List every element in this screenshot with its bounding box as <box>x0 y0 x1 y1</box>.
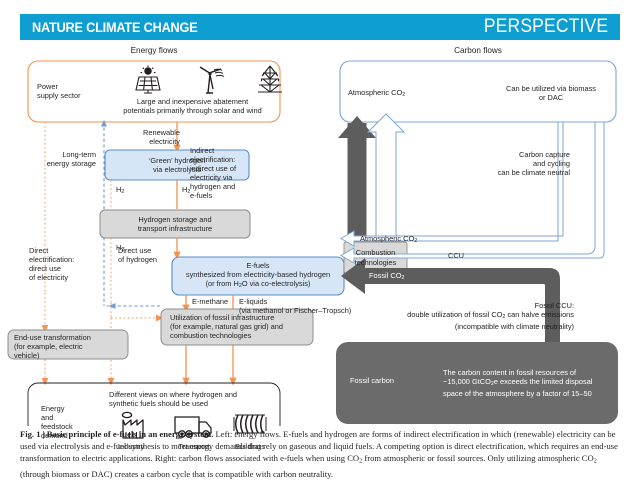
demand-note: Different views on where hydrogen and sy… <box>109 390 289 408</box>
fossil-ccu-line2: double utilization of fossil CO2 can hal… <box>407 310 574 319</box>
fossil-carbon-note: The carbon content in fossil resources o… <box>443 368 623 398</box>
indirect-electrification-label: Indirect electrification: indirect use o… <box>190 146 248 200</box>
energy-flows-title: Energy flows <box>104 46 204 55</box>
combustion-technologies-label: Combustion technologies <box>344 242 407 273</box>
h2-label-left: H2 <box>116 185 124 197</box>
long-term-storage-label: Long-term energy storage <box>30 150 96 168</box>
hydrogen-storage-label: Hydrogen storage and transport infrastru… <box>100 210 250 238</box>
atmospheric-co2-arrow-label: Atmospheric CO2 <box>360 234 417 246</box>
figure-canvas: Energy flows Carbon flows Power supply s… <box>0 46 640 426</box>
renewable-electricity-label: Renewable electricity <box>118 128 180 146</box>
caption-bold-title: Basic principle of e-fuels in an energy … <box>47 429 214 439</box>
end-use-transformation-label: End-use transformation (for example, ele… <box>14 333 130 360</box>
power-supply-sector-label: Power supply sector <box>37 82 117 100</box>
atmospheric-co2-supply-arrow <box>341 122 563 246</box>
carbon-flows-title: Carbon flows <box>428 46 528 55</box>
ccu-label: CCU <box>448 251 464 260</box>
carbon-capture-note: Carbon capture and cycling can be climat… <box>470 150 570 177</box>
article-section-label: PERSPECTIVE <box>484 16 608 38</box>
fossil-ccu-note: Fossil CCU: double utilization of fossil… <box>358 301 574 331</box>
atmospheric-co2-label: Atmospheric CO2 <box>348 88 405 100</box>
journal-title: NATURE CLIMATE CHANGE <box>32 20 197 35</box>
caption-figure-number: Fig. 1 | <box>20 429 45 439</box>
atmospheric-cycle-arrow <box>368 114 404 242</box>
direct-electrification-label: Direct electrification: direct use of el… <box>29 246 91 282</box>
fossil-emission-arrow <box>338 116 376 242</box>
fossil-co2-arrow-label: Fossil CO2 <box>369 271 404 283</box>
fossil-carbon-label: Fossil carbon <box>350 376 394 385</box>
journal-header: NATURE CLIMATE CHANGE PERSPECTIVE <box>20 14 620 40</box>
efuels-line2: (or from H2O via co-electrolysis) <box>206 279 311 288</box>
e-methane-label: E-methane <box>192 297 228 306</box>
biomass-dac-note: Can be utilized via biomass or DAC <box>496 84 606 102</box>
power-supply-note: Large and inexpensive abatement potentia… <box>110 97 275 115</box>
efuels-label: E-fuels synthesized from electricity-bas… <box>172 257 344 295</box>
fossil-infrastructure-label: Utilization of fossil infrastructure (fo… <box>170 313 310 340</box>
fossil-carbon-note-line2: ~15,000 GtCO2e exceeds the limited dispo… <box>443 377 592 386</box>
figure-caption: Fig. 1 | Basic principle of e-fuels in a… <box>20 428 620 480</box>
